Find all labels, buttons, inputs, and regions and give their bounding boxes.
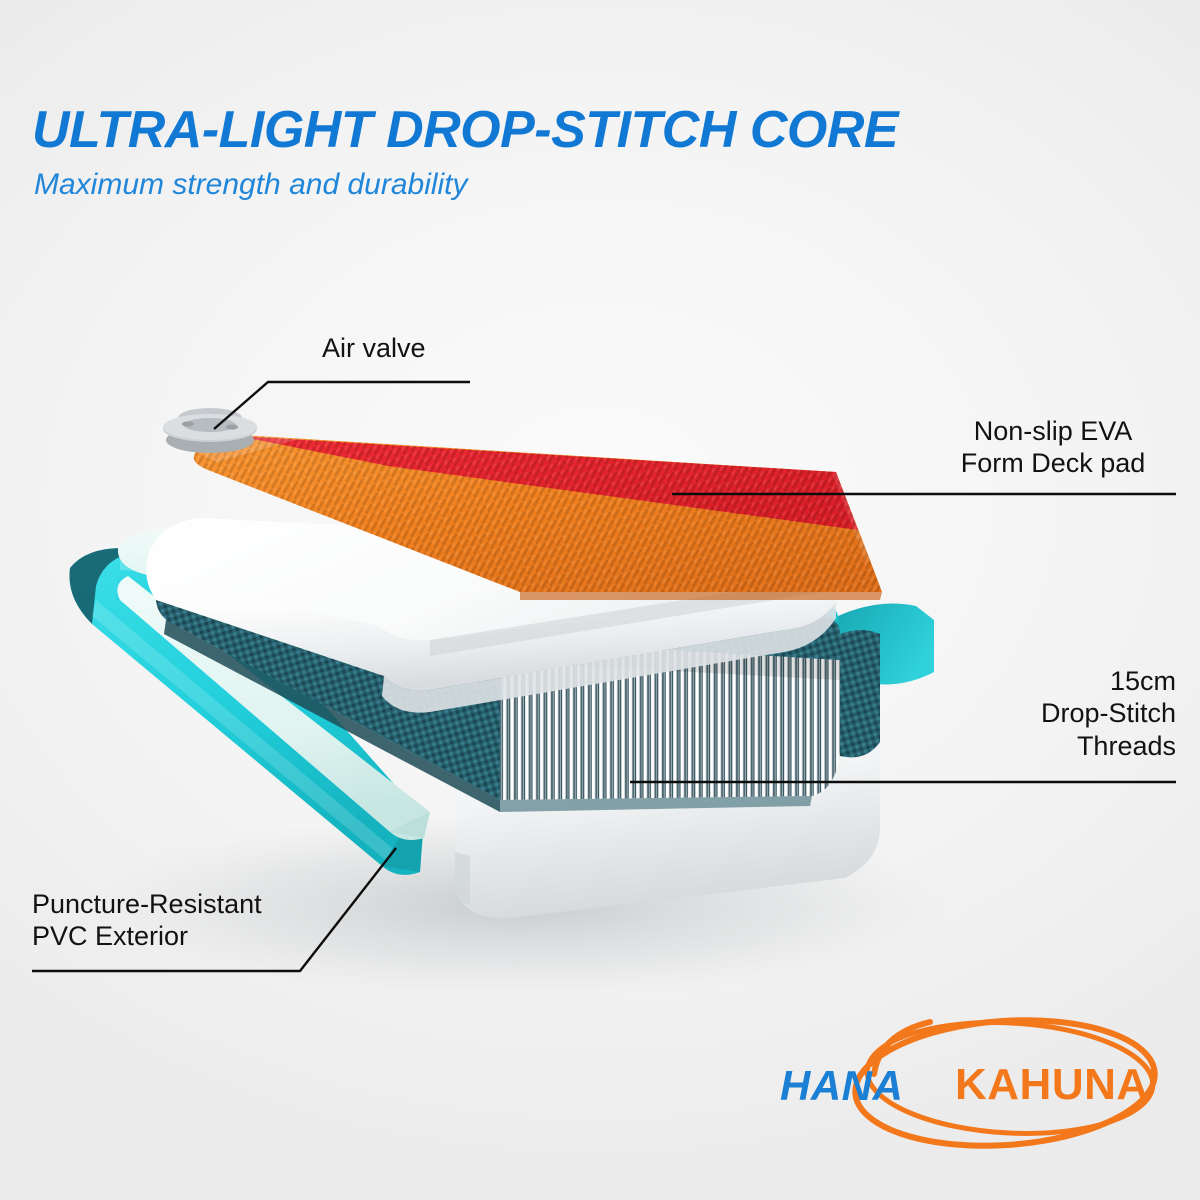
callout-air-valve: Air valve [322, 332, 426, 364]
brand-logo: HANA KAHUNA [770, 1000, 1170, 1170]
callout-deck-pad: Non-slip EVA Form Deck pad [930, 415, 1176, 480]
callout-drop-stitch: 15cm Drop-Stitch Threads [936, 665, 1176, 762]
callout-pvc-exterior: Puncture-Resistant PVC Exterior [32, 888, 392, 953]
infographic-canvas: ULTRA-LIGHT DROP-STITCH CORE Maximum str… [0, 0, 1200, 1200]
logo-word-kahuna: KAHUNA [955, 1060, 1149, 1110]
logo-word-hana: HANA [780, 1062, 903, 1110]
air-valve [163, 408, 257, 453]
